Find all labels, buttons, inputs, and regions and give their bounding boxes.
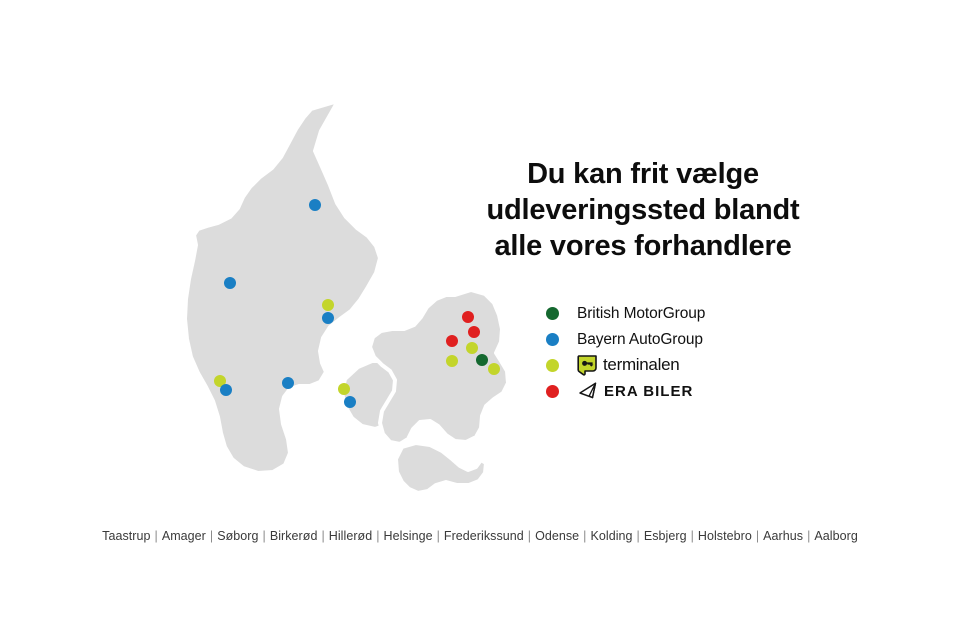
legend-item-terminalen: terminalen	[546, 352, 866, 378]
map-dot-helsinge[interactable]	[462, 311, 474, 323]
map-dot-hillerod[interactable]	[468, 326, 480, 338]
legend-dot-lime	[546, 359, 559, 372]
city-separator: |	[372, 529, 383, 543]
city-separator: |	[633, 529, 644, 543]
era-triangle-icon	[577, 382, 599, 400]
era-biler-logo: ERA BILER	[577, 382, 693, 400]
city-name: Taastrup	[102, 529, 150, 543]
landmass-lolland-falster	[396, 443, 486, 493]
city-name: Helsinge	[384, 529, 433, 543]
legend-item-era-biler: ERA BILER	[546, 378, 866, 404]
dealer-legend: British MotorGroup Bayern AutoGroup term…	[546, 300, 866, 404]
city-separator: |	[206, 529, 217, 543]
city-name: Frederikssund	[444, 529, 524, 543]
city-separator: |	[524, 529, 535, 543]
legend-item-british-motorgroup: British MotorGroup	[546, 300, 866, 326]
map-dot-taastrup[interactable]	[446, 355, 458, 367]
era-biler-wordmark: ERA BILER	[604, 383, 693, 400]
terminalen-logo: terminalen	[577, 355, 679, 376]
city-name: Birkerød	[270, 529, 318, 543]
city-name: Odense	[535, 529, 579, 543]
city-name: Kolding	[590, 529, 632, 543]
legend-item-bayern-autogroup: Bayern AutoGroup	[546, 326, 866, 352]
city-name: Hillerød	[329, 529, 372, 543]
city-list: Taastrup|Amager|Søborg|Birkerød|Hillerød…	[0, 528, 960, 544]
legend-label-british-motorgroup: British MotorGroup	[577, 305, 705, 322]
map-dot-amager[interactable]	[488, 363, 500, 375]
city-name: Søborg	[217, 529, 258, 543]
map-dot-aalborg[interactable]	[309, 199, 321, 211]
map-dot-odense-terminal[interactable]	[338, 383, 350, 395]
city-separator: |	[317, 529, 328, 543]
terminalen-wordmark: terminalen	[603, 355, 679, 375]
page-title: Du kan frit vælge udleveringssted blandt…	[452, 156, 834, 264]
headline-line-3: alle vores forhandlere	[452, 228, 834, 264]
city-name: Amager	[162, 529, 206, 543]
city-name: Holstebro	[698, 529, 752, 543]
legend-dot-red	[546, 385, 559, 398]
city-separator: |	[752, 529, 763, 543]
city-separator: |	[151, 529, 162, 543]
map-dot-aarhus-terminal[interactable]	[322, 299, 334, 311]
map-dot-odense[interactable]	[344, 396, 356, 408]
city-separator: |	[687, 529, 698, 543]
map-dot-kolding[interactable]	[282, 377, 294, 389]
legend-dot-green	[546, 307, 559, 320]
city-separator: |	[433, 529, 444, 543]
poster-canvas: Du kan frit vælge udleveringssted blandt…	[0, 0, 960, 640]
city-name: Aarhus	[763, 529, 803, 543]
city-name: Esbjerg	[644, 529, 687, 543]
headline-line-1: Du kan frit vælge	[452, 156, 834, 192]
map-dot-soborg[interactable]	[476, 354, 488, 366]
terminalen-badge-icon	[577, 355, 598, 376]
landmass-zealand	[370, 290, 508, 444]
legend-label-bayern-autogroup: Bayern AutoGroup	[577, 331, 703, 348]
map-dot-esbjerg[interactable]	[220, 384, 232, 396]
city-separator: |	[259, 529, 270, 543]
legend-dot-blue	[546, 333, 559, 346]
map-dot-frederikssund[interactable]	[446, 335, 458, 347]
city-separator: |	[803, 529, 814, 543]
map-dot-birkerod[interactable]	[466, 342, 478, 354]
map-dot-aarhus[interactable]	[322, 312, 334, 324]
headline-line-2: udleveringssted blandt	[452, 192, 834, 228]
city-separator: |	[579, 529, 590, 543]
map-dot-holstebro[interactable]	[224, 277, 236, 289]
city-name: Aalborg	[814, 529, 857, 543]
